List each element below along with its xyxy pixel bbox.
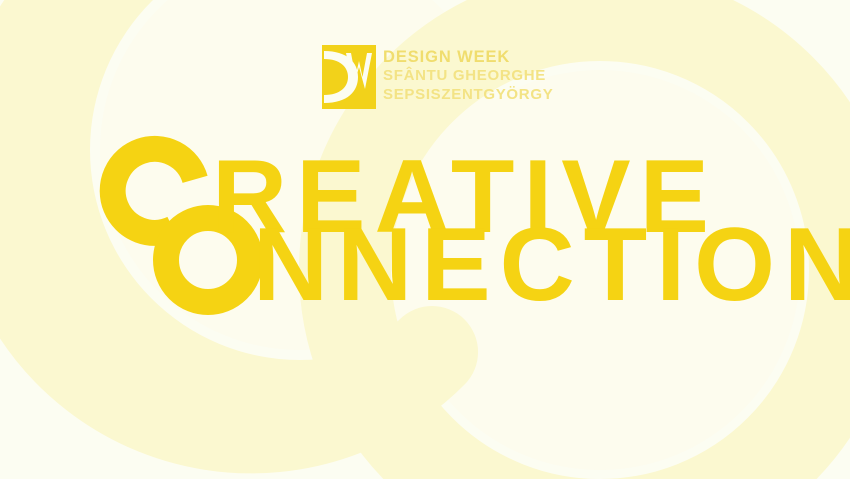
headline-creative-connection: REATIVE NNECTION <box>0 0 850 479</box>
poster-canvas: DESIGN WEEK SFÂNTU GHEORGHE SEPSISZENTGY… <box>0 0 850 479</box>
headline-line2-remainder: NNECTION <box>253 207 850 323</box>
